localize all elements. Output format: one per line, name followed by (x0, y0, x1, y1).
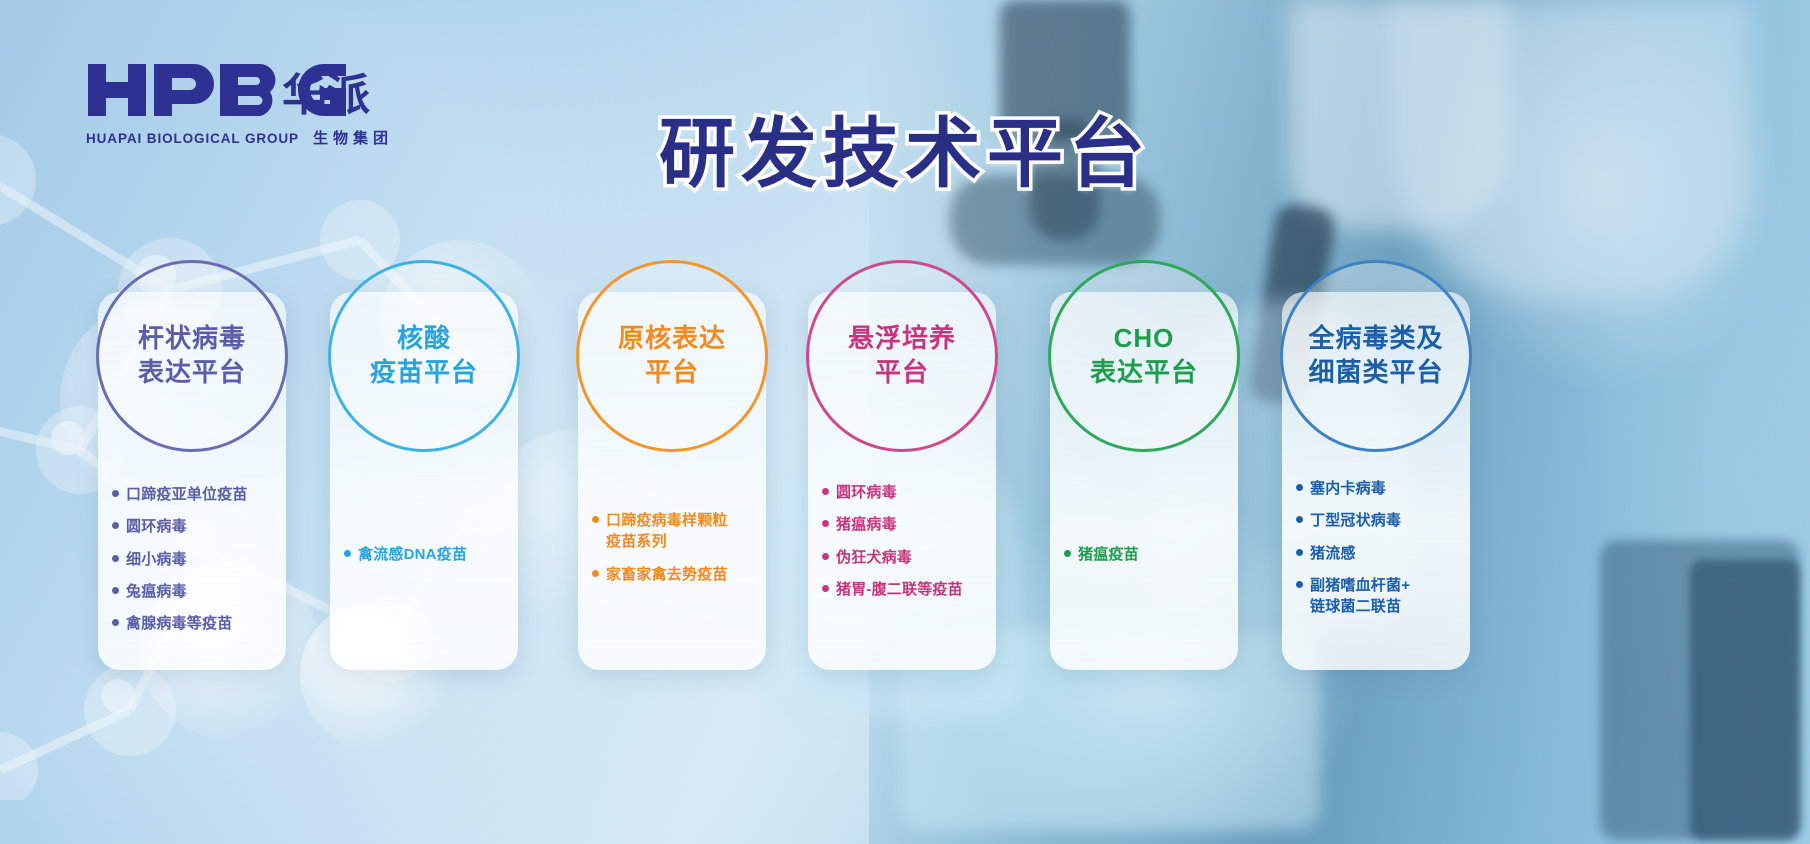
bullet-dot-icon (112, 522, 119, 529)
platform-title: CHO 表达平台 (1090, 322, 1198, 390)
bullet-text: 猪流感 (1310, 543, 1356, 564)
list-item: 伪狂犬病毒 (822, 547, 986, 568)
bullet-text: 细小病毒 (126, 549, 187, 570)
platform-bullet-list: 禽流感DNA疫苗 (344, 544, 508, 565)
list-item: 兔瘟病毒 (112, 581, 276, 602)
bullet-dot-icon (1296, 516, 1303, 523)
platform-title: 全病毒类及 细菌类平台 (1308, 322, 1443, 390)
list-item: 口蹄疫病毒样颗粒 疫苗系列 (592, 510, 756, 553)
bullet-text: 猪瘟疫苗 (1078, 544, 1139, 565)
list-item: 口蹄疫亚单位疫苗 (112, 484, 276, 505)
list-item: 猪流感 (1296, 543, 1460, 564)
list-item: 猪瘟病毒 (822, 514, 986, 535)
bullet-dot-icon (592, 516, 599, 523)
platform-ring: 悬浮培养 平台 (806, 260, 998, 452)
platform-title: 原核表达 平台 (618, 322, 726, 390)
platform-bullet-list: 猪瘟疫苗 (1064, 544, 1228, 565)
platform-ring: CHO 表达平台 (1048, 260, 1240, 452)
bullet-text: 副猪嗜血杆菌+ 链球菌二联苗 (1310, 575, 1410, 618)
platform-bullet-list: 口蹄疫亚单位疫苗 圆环病毒 细小病毒 兔瘟病毒 禽腺病毒等疫苗 (112, 484, 276, 634)
bullet-dot-icon (112, 587, 119, 594)
bullet-text: 圆环病毒 (126, 516, 187, 537)
list-item: 细小病毒 (112, 549, 276, 570)
bullet-dot-icon (112, 490, 119, 497)
list-item: 禽流感DNA疫苗 (344, 544, 508, 565)
platform-ring: 全病毒类及 细菌类平台 (1280, 260, 1472, 452)
bullet-text: 伪狂犬病毒 (836, 547, 912, 568)
platform-ring: 核酸 疫苗平台 (328, 260, 520, 452)
platform-bullet-list: 圆环病毒 猪瘟病毒 伪狂犬病毒 猪胃-腹二联等疫苗 (822, 482, 986, 600)
poster-canvas: 华派 HUAPAI BIOLOGICAL GROUP 生物集团 研发技术平台 杆… (0, 0, 1810, 844)
platform-title: 核酸 疫苗平台 (370, 322, 478, 390)
bullet-dot-icon (592, 570, 599, 577)
list-item: 圆环病毒 (822, 482, 986, 503)
platform-title: 悬浮培养 平台 (848, 322, 956, 390)
bullet-text: 口蹄疫亚单位疫苗 (126, 484, 248, 505)
bullet-text: 圆环病毒 (836, 482, 897, 503)
list-item: 丁型冠状病毒 (1296, 510, 1460, 531)
list-item: 禽腺病毒等疫苗 (112, 613, 276, 634)
list-item: 家畜家禽去势疫苗 (592, 564, 756, 585)
list-item: 圆环病毒 (112, 516, 276, 537)
platform-card-whole-virus-bacteria[interactable]: 全病毒类及 细菌类平台 塞内卡病毒 丁型冠状病毒 猪流感 副猪嗜血杆菌+ 链球菌… (1282, 292, 1470, 670)
bullet-text: 口蹄疫病毒样颗粒 疫苗系列 (606, 510, 728, 553)
platform-card-baculovirus[interactable]: 杆状病毒 表达平台 口蹄疫亚单位疫苗 圆环病毒 细小病毒 兔瘟病毒 禽腺病毒等疫… (98, 292, 286, 670)
platform-card-nucleic-acid[interactable]: 核酸 疫苗平台 禽流感DNA疫苗 (330, 292, 518, 670)
bullet-dot-icon (1296, 484, 1303, 491)
bullet-dot-icon (112, 619, 119, 626)
list-item: 猪胃-腹二联等疫苗 (822, 579, 986, 600)
bullet-dot-icon (822, 585, 829, 592)
platform-card-list: 杆状病毒 表达平台 口蹄疫亚单位疫苗 圆环病毒 细小病毒 兔瘟病毒 禽腺病毒等疫… (0, 0, 1810, 844)
platform-ring: 杆状病毒 表达平台 (96, 260, 288, 452)
bullet-text: 家畜家禽去势疫苗 (606, 564, 728, 585)
bullet-dot-icon (1064, 550, 1071, 557)
platform-card-cho[interactable]: CHO 表达平台 猪瘟疫苗 (1050, 292, 1238, 670)
bullet-dot-icon (1296, 581, 1303, 588)
bullet-dot-icon (112, 555, 119, 562)
bullet-dot-icon (822, 520, 829, 527)
platform-card-prokaryotic[interactable]: 原核表达 平台 口蹄疫病毒样颗粒 疫苗系列 家畜家禽去势疫苗 (578, 292, 766, 670)
bullet-dot-icon (344, 550, 351, 557)
platform-bullet-list: 口蹄疫病毒样颗粒 疫苗系列 家畜家禽去势疫苗 (592, 510, 756, 585)
bullet-text: 兔瘟病毒 (126, 581, 187, 602)
bullet-text: 丁型冠状病毒 (1310, 510, 1401, 531)
platform-card-suspension-culture[interactable]: 悬浮培养 平台 圆环病毒 猪瘟病毒 伪狂犬病毒 猪胃-腹二联等疫苗 (808, 292, 996, 670)
bullet-dot-icon (822, 488, 829, 495)
bullet-text: 塞内卡病毒 (1310, 478, 1386, 499)
list-item: 塞内卡病毒 (1296, 478, 1460, 499)
platform-title: 杆状病毒 表达平台 (138, 322, 246, 390)
platform-ring: 原核表达 平台 (576, 260, 768, 452)
bullet-dot-icon (822, 553, 829, 560)
list-item: 猪瘟疫苗 (1064, 544, 1228, 565)
list-item: 副猪嗜血杆菌+ 链球菌二联苗 (1296, 575, 1460, 618)
bullet-text: 猪瘟病毒 (836, 514, 897, 535)
bullet-dot-icon (1296, 549, 1303, 556)
bullet-text: 禽腺病毒等疫苗 (126, 613, 232, 634)
platform-bullet-list: 塞内卡病毒 丁型冠状病毒 猪流感 副猪嗜血杆菌+ 链球菌二联苗 (1296, 478, 1460, 617)
bullet-text: 禽流感DNA疫苗 (358, 544, 467, 565)
bullet-text: 猪胃-腹二联等疫苗 (836, 579, 963, 600)
